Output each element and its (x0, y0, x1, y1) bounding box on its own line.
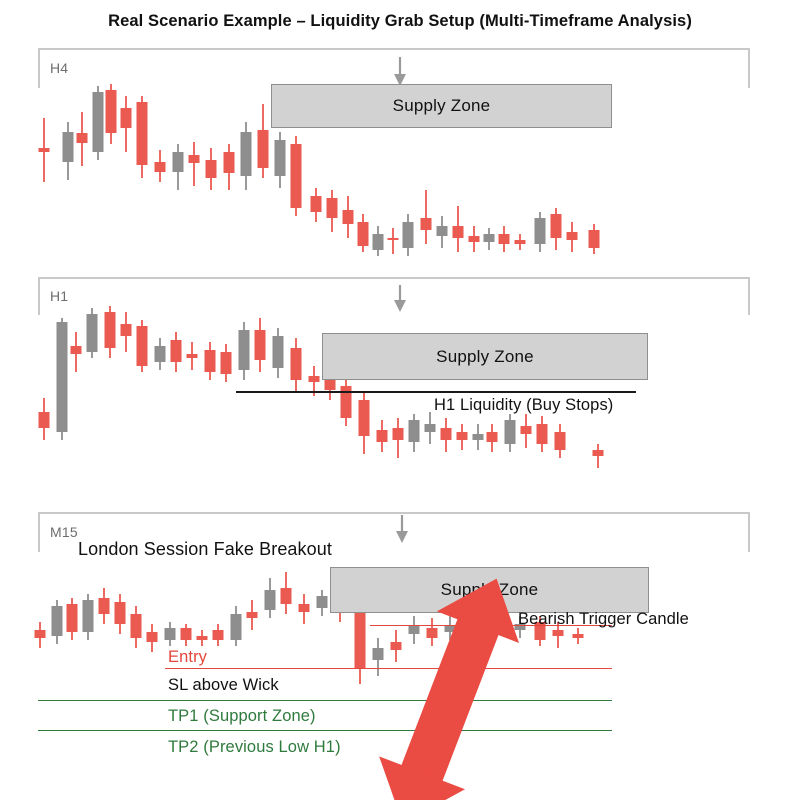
bearish-move-arrow-svg (0, 0, 800, 800)
double-arrow-icon (360, 562, 540, 800)
